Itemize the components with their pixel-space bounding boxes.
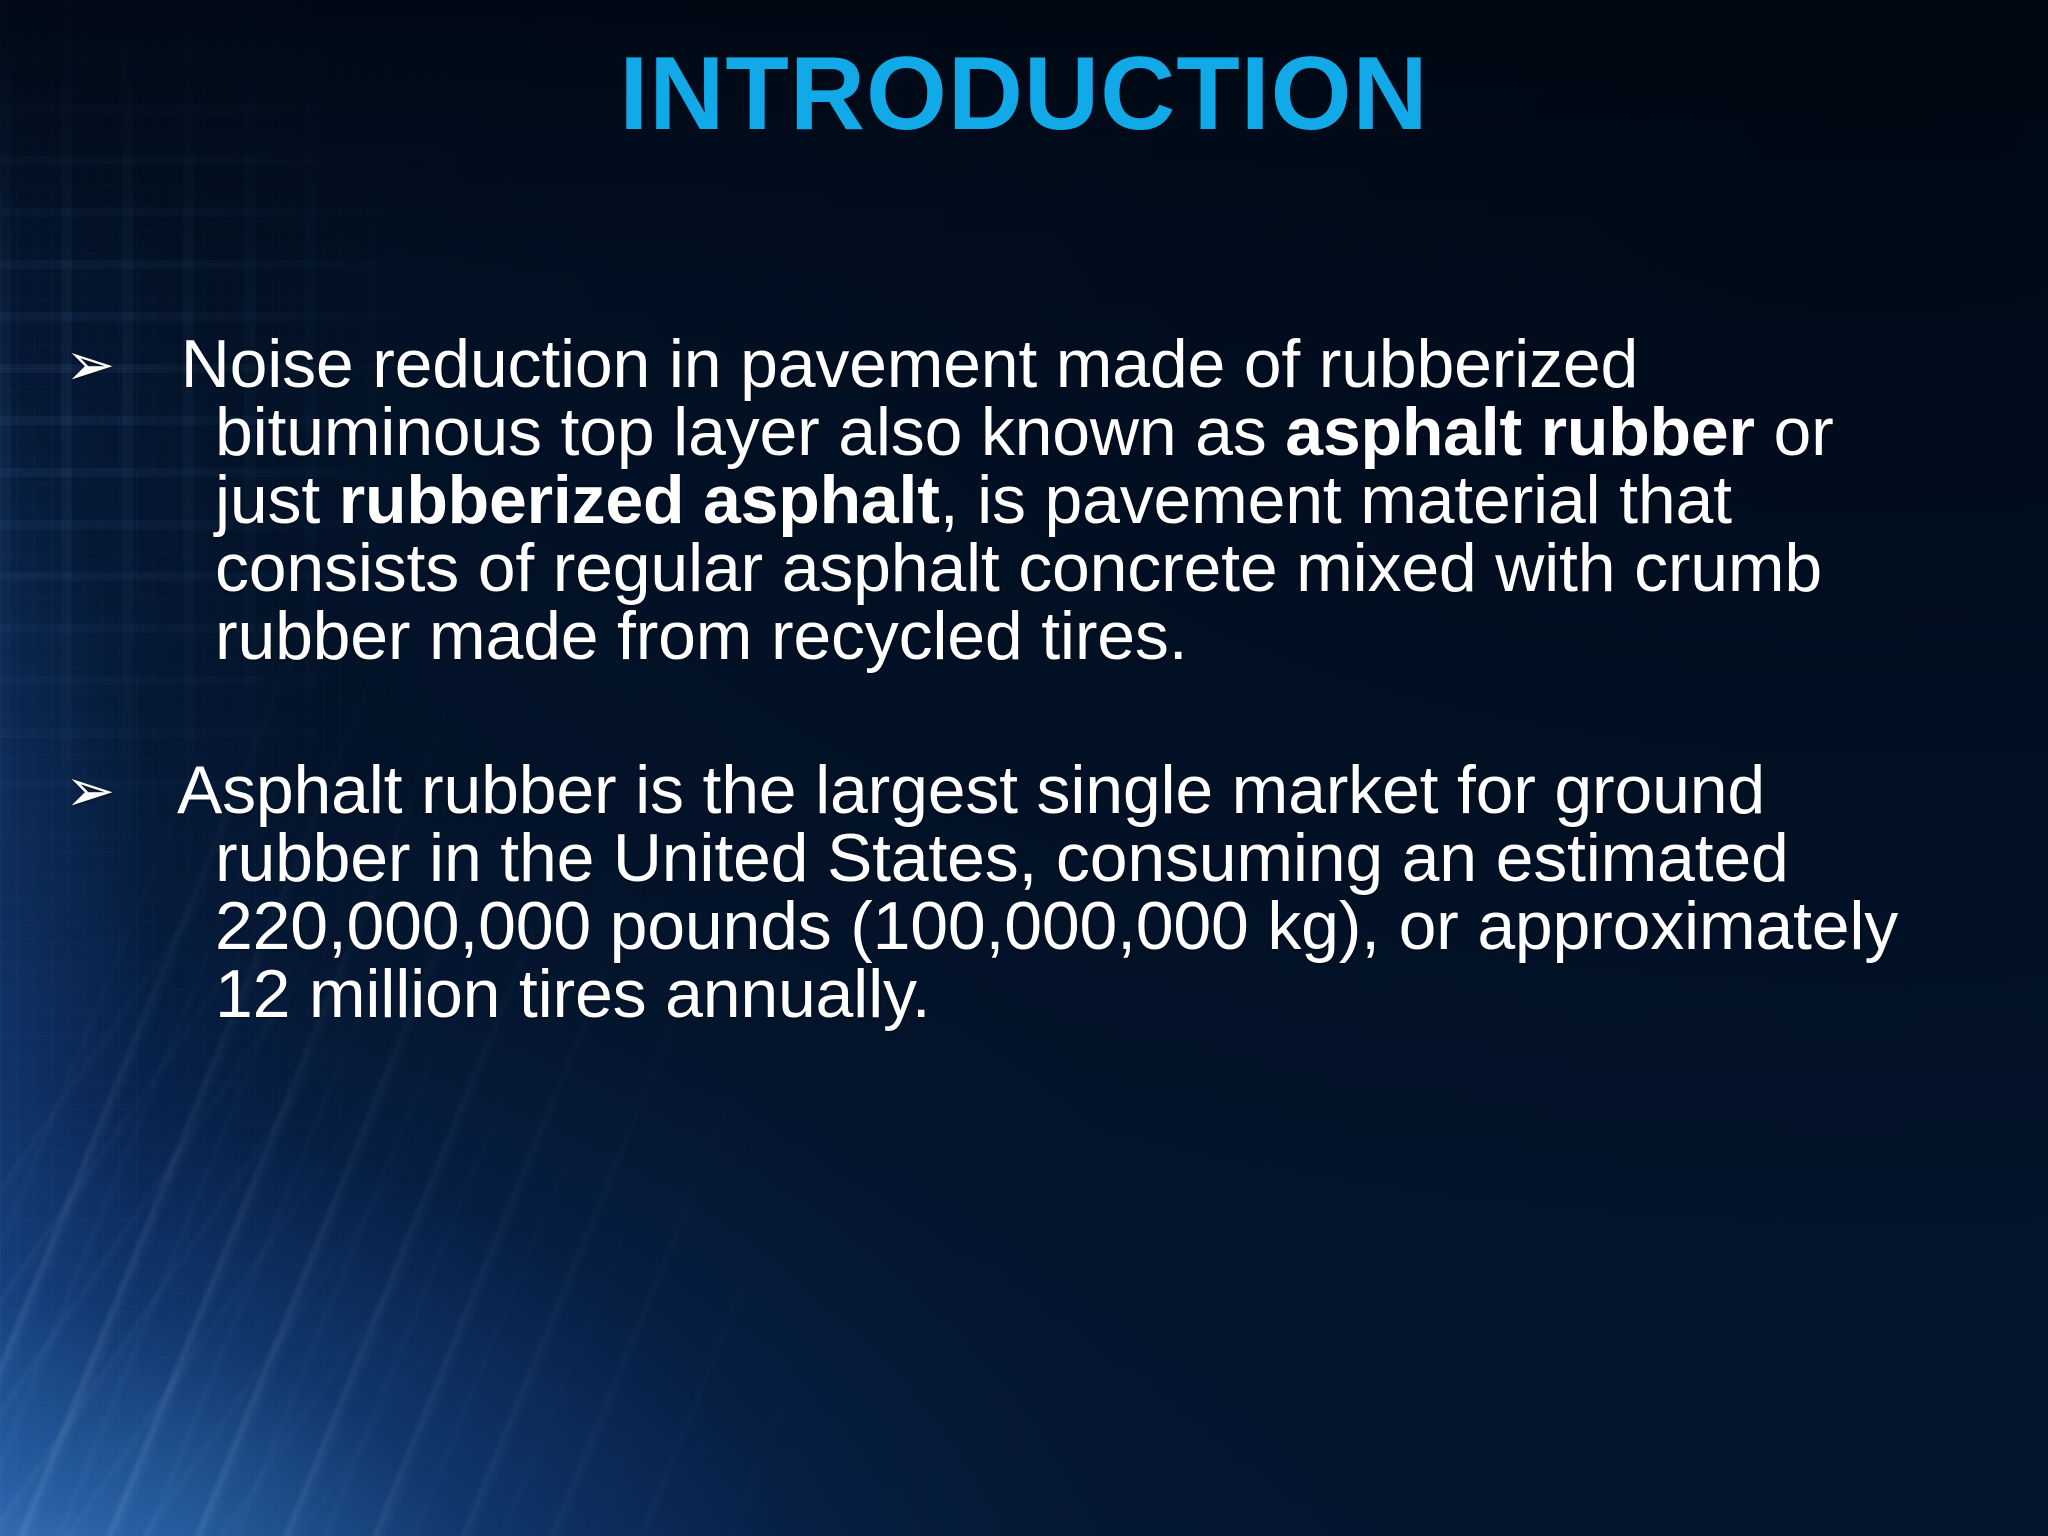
bullet-text-emphasis: rubberized asphalt [339, 462, 940, 538]
slide-body: ➢ Noise reduction in pavement made of ru… [140, 262, 1930, 1096]
bullet-text-emphasis: asphalt rubber [1285, 394, 1755, 470]
slide-title: INTRODUCTION [0, 36, 2048, 152]
bullet-text: Asphalt rubber is the largest single mar… [162, 752, 1898, 1032]
bullet-item: ➢ Asphalt rubber is the largest single m… [140, 756, 1930, 1028]
presentation-slide: INTRODUCTION ➢ Noise reduction in paveme… [0, 0, 2048, 1536]
bullet-text-run: Asphalt rubber is the largest single mar… [162, 752, 1898, 1032]
slide-content: INTRODUCTION ➢ Noise reduction in paveme… [0, 0, 2048, 1536]
bullet-text: Noise reduction in pavement made of rubb… [162, 326, 1834, 674]
bullet-item: ➢ Noise reduction in pavement made of ru… [140, 330, 1930, 670]
